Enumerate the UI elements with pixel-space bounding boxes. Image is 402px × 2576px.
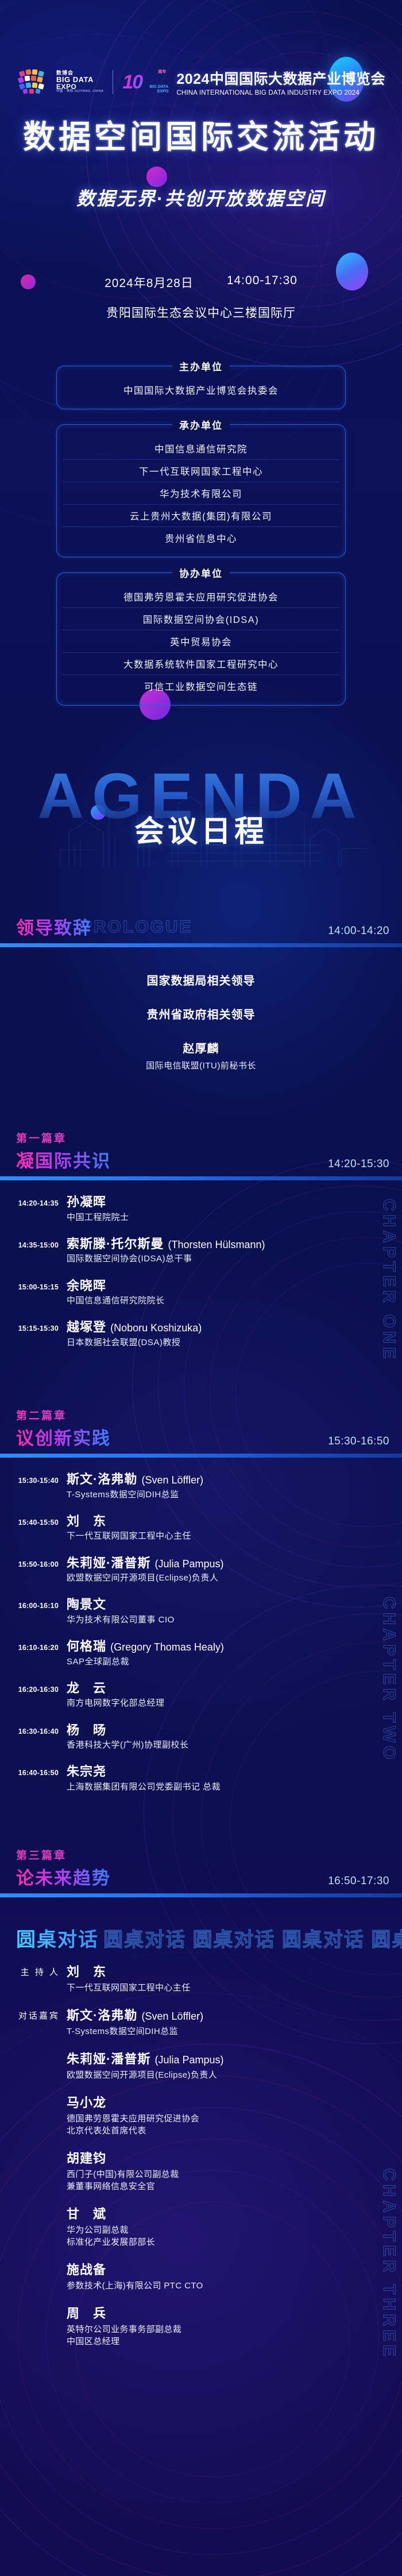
guest-label-spacer [0, 2303, 67, 2307]
organizer-item: 可信工业数据空间生态链 [63, 675, 339, 697]
talk-speaker-name: 余晓晖 [67, 1278, 402, 1294]
organizer-item: 英中贸易协会 [63, 630, 339, 652]
roundtable-guest-row: 对话嘉宾 斯文·洛弗勒 (Sven Löffler) T-Systems数据空间… [0, 2005, 402, 2049]
section-header: 领导致辞 PROLOGUE 14:00-14:20 [0, 913, 402, 939]
roundtable-guest-row: 周 兵 英特尔公司业务事务部副总裁 中国区总经理 [0, 2303, 402, 2359]
talk-row: 15:15-15:30 越塚登 (Noboru Koshizuka) 日本数据社… [0, 1319, 402, 1361]
section-rule [0, 1454, 402, 1458]
guest-name: 甘 斌 [67, 2204, 402, 2222]
hero-section: 数博会 BIG DATA EXPO 中国 · 贵阳 GUIYANG, CHINA… [0, 0, 402, 321]
guest-label-spacer [0, 2204, 67, 2208]
anniversary-bigdata-expo: BIG DATAEXPO [150, 85, 169, 94]
roundtable-ghost-text: 圆桌对话 圆桌对话 圆桌对话 圆桌对话 [103, 1924, 402, 1952]
roundtable-participants: 主 持 人 刘 东 下一代互联网国家工程中心主任 对话嘉宾 斯文·洛弗勒 (Sv… [0, 1954, 402, 2393]
talk-row: 15:40-15:50 刘 东 下一代互联网国家工程中心主任 [0, 1513, 402, 1555]
logo-divider [113, 70, 113, 94]
talk-row: 16:00-16:10 陶景文 华为技术有限公司董事 CIO [0, 1597, 402, 1638]
guest-label-spacer [0, 2260, 67, 2264]
talk-speaker-role: 上海数据集团有限公司党委副书记 总裁 [67, 1781, 402, 1793]
event-datetime: 2024年8月28日 14:00-17:30 [0, 274, 402, 291]
section-header: 第二篇章 议创新实践 15:30-16:50 [0, 1407, 402, 1450]
talk-speaker-name: 陶景文 [67, 1597, 402, 1613]
organizer-item: 下一代互联网国家工程中心 [63, 459, 339, 482]
slogan-dot: · [157, 188, 165, 209]
talk-speaker-name: 杨 旸 [67, 1722, 402, 1738]
host-role: 下一代互联网国家工程中心主任 [67, 1982, 402, 1994]
speaker-role: 国际电信联盟(ITU)前秘书长 [0, 1059, 402, 1071]
talk-speaker-role: 中国信息通信研究院院长 [67, 1295, 402, 1307]
talk-speaker-role: 国际数据空间协会(IDSA)总干事 [67, 1253, 402, 1265]
roundtable-guest-row: 施战备 参数技术(上海)有限公司 PTC CTO [0, 2260, 402, 2303]
chapter-label: 第二篇章 [16, 1407, 393, 1423]
talk-speaker-name: 索斯滕·托尔斯曼 (Thorsten Hülsmann) [67, 1236, 402, 1252]
organizer-item: 大数据系统软件国家工程研究中心 [63, 652, 339, 675]
event-poster: 数博会 BIG DATA EXPO 中国 · 贵阳 GUIYANG, CHINA… [0, 0, 402, 2576]
talk-time: 14:20-14:35 [0, 1194, 67, 1207]
speaker-name: 贵州省政府相关领导 [0, 1005, 402, 1022]
organizer-item: 贵州省信息中心 [63, 526, 339, 549]
event-time: 14:00-17:30 [227, 274, 297, 291]
chapter-one-talks: 14:20-14:35 孙凝晖 中国工程院院士 14:35-15:00 索斯滕·… [0, 1180, 402, 1365]
talk-speaker-role: 香港科技大学(广州)协理副校长 [67, 1740, 402, 1751]
event-venue: 贵阳国际生态会议中心三楼国际厅 [0, 304, 402, 321]
organizer-item: 华为技术有限公司 [63, 482, 339, 504]
expo-title-en: CHINA INTERNATIONAL BIG DATA INDUSTRY EX… [176, 90, 385, 96]
guest-label-spacer [0, 2148, 67, 2152]
organizer-item: 云上贵州大数据(集团)有限公司 [63, 504, 339, 526]
roundtable-guest-row: 胡建钧 西门子(中国)有限公司副总裁 兼董事网络信息安全官 [0, 2148, 402, 2204]
section-title: 领导致辞 [16, 913, 92, 939]
guest-role: 参数技术(上海)有限公司 PTC CTO [67, 2280, 402, 2292]
talk-time: 14:35-15:00 [0, 1236, 67, 1249]
organizer-item: 中国国际大数据产业博览会执委会 [63, 379, 339, 401]
anniversary-logo-icon: 10 周年 BIG DATAEXPO [122, 69, 165, 95]
chapter-label: 第一篇章 [16, 1130, 393, 1145]
guest-role: 华为公司副总裁 标准化产业发展部部长 [67, 2224, 402, 2248]
organizer-heading: 主办单位 [56, 359, 346, 373]
organizer-item: 德国弗劳恩霍夫应用研究促进协会 [63, 586, 339, 607]
organizers-section: 主办单位 中国国际大数据产业博览会执委会 承办单位 中国信息通信研究院 下一代互… [0, 366, 402, 706]
talk-speaker-role: 华为技术有限公司董事 CIO [67, 1614, 402, 1626]
organizer-heading: 协办单位 [56, 565, 346, 580]
talk-speaker-name: 何格瑞 (Gregory Thomas Healy) [67, 1638, 402, 1655]
expo-title-block: 2024中国国际大数据产业博览会 CHINA INTERNATIONAL BIG… [171, 68, 385, 96]
talk-row: 16:30-16:40 杨 旸 香港科技大学(广州)协理副校长 [0, 1722, 402, 1764]
talk-time: 15:40-15:50 [0, 1513, 67, 1527]
talk-speaker-name: 越塚登 (Noboru Koshizuka) [67, 1319, 402, 1335]
guest-name: 朱莉娅·潘普斯 (Julia Pampus) [67, 2049, 402, 2067]
talk-row: 15:50-16:00 朱莉娅·潘普斯 (Julia Pampus) 欧盟数据空… [0, 1555, 402, 1597]
talk-speaker-role: 下一代互联网国家工程中心主任 [67, 1531, 402, 1542]
talk-time: 15:00-15:15 [0, 1278, 67, 1291]
anniversary-cn: 周年 [158, 69, 166, 75]
talk-speaker-role: 中国工程院院士 [67, 1212, 402, 1223]
roundtable-guest-row: 朱莉娅·潘普斯 (Julia Pampus) 欧盟数据空间开源项目(Eclips… [0, 2049, 402, 2093]
guest-name: 马小龙 [67, 2093, 402, 2111]
roundtable-title: 圆桌对话 [16, 1924, 99, 1952]
section-ghost-text: PROLOGUE [80, 917, 193, 937]
guest-label-spacer [0, 2049, 67, 2053]
talk-time: 15:30-15:40 [0, 1471, 67, 1485]
talk-time: 16:30-16:40 [0, 1722, 67, 1736]
talk-row: 15:30-15:40 斯文·洛弗勒 (Sven Löffler) T-Syst… [0, 1471, 402, 1513]
section-time: 15:30-16:50 [328, 1435, 393, 1450]
expo-title-cn: 2024中国国际大数据产业博览会 [176, 68, 385, 88]
section-header: 第三篇章 论未来趋势 16:50-17:30 [0, 1847, 402, 1889]
page-title: 数据空间国际交流活动 [0, 111, 402, 158]
brand-logo-sub: 中国 · 贵阳 GUIYANG, CHINA [56, 90, 103, 94]
talk-speaker-name: 刘 东 [67, 1513, 402, 1529]
speaker-name: 赵厚麟 [0, 1039, 402, 1056]
guest-role: 德国弗劳恩霍夫应用研究促进协会 北京代表处首席代表 [67, 2113, 402, 2137]
roundtable-host-row: 主 持 人 刘 东 下一代互联网国家工程中心主任 [0, 1962, 402, 2005]
talk-speaker-role: 南方电网数字化部总经理 [67, 1698, 402, 1709]
guest-name: 斯文·洛弗勒 (Sven Löffler) [67, 2005, 402, 2024]
section-time: 14:20-15:30 [328, 1158, 393, 1172]
section-rule [0, 943, 402, 947]
section-chapter-one: CHAPTER ONE 第一篇章 凝国际共识 14:20-15:30 14:20… [0, 1130, 402, 1365]
agenda-banner: AGENDA 会议日程 [0, 761, 402, 896]
talk-speaker-name: 朱宗尧 [67, 1764, 402, 1780]
roundtable-guest-row: 甘 斌 华为公司副总裁 标准化产业发展部部长 [0, 2204, 402, 2260]
section-title: 论未来趋势 [16, 1864, 111, 1889]
event-slogan: 数据无界·共创开放数据空间 [0, 184, 402, 211]
prologue-speaker-list: 国家数据局相关领导 贵州省政府相关领导 赵厚麟 国际电信联盟(ITU)前秘书长 [0, 947, 402, 1077]
guest-role: 西门子(中国)有限公司副总裁 兼董事网络信息安全官 [67, 2168, 402, 2192]
section-rule [0, 1176, 402, 1180]
talk-speaker-name: 孙凝晖 [67, 1194, 402, 1210]
slogan-right: 共创开放数据空间 [165, 188, 326, 209]
talk-time: 16:20-16:30 [0, 1680, 67, 1694]
bigdata-expo-logo-icon [18, 69, 51, 95]
organizer-item: 国际数据空间协会(IDSA) [63, 607, 339, 630]
talk-time: 16:10-16:20 [0, 1638, 67, 1652]
talk-row: 16:10-16:20 何格瑞 (Gregory Thomas Healy) S… [0, 1638, 402, 1680]
organizer-box: 德国弗劳恩霍夫应用研究促进协会 国际数据空间协会(IDSA) 英中贸易协会 大数… [56, 572, 346, 706]
talk-speaker-name: 朱莉娅·潘普斯 (Julia Pampus) [67, 1555, 402, 1571]
guest-label: 对话嘉宾 [0, 2005, 67, 2021]
talk-time: 16:00-16:10 [0, 1597, 67, 1610]
section-time: 14:00-14:20 [328, 925, 393, 939]
section-chapter-two: CHAPTER TWO 第二篇章 议创新实践 15:30-16:50 15:30… [0, 1407, 402, 1809]
organizer-block-supporter: 协办单位 德国弗劳恩霍夫应用研究促进协会 国际数据空间协会(IDSA) 英中贸易… [56, 572, 346, 706]
section-title: 凝国际共识 [16, 1146, 111, 1172]
brand-logo-text: 数博会 BIG DATA EXPO 中国 · 贵阳 GUIYANG, CHINA [56, 71, 103, 94]
event-date: 2024年8月28日 [105, 274, 194, 291]
organizer-box: 中国信息通信研究院 下一代互联网国家工程中心 华为技术有限公司 云上贵州大数据(… [56, 424, 346, 557]
organizer-block-host: 主办单位 中国国际大数据产业博览会执委会 [56, 366, 346, 409]
guest-label-spacer [0, 2093, 67, 2097]
section-prologue: 领导致辞 PROLOGUE 14:00-14:20 国家数据局相关领导 贵州省政… [0, 913, 402, 1077]
section-rule [0, 1893, 402, 1897]
section-chapter-three: CHAPTER THREE 第三篇章 论未来趋势 16:50-17:30 圆桌对… [0, 1847, 402, 2393]
guest-role: 英特尔公司业务事务部副总裁 中国区总经理 [67, 2323, 402, 2348]
guest-name: 周 兵 [67, 2303, 402, 2322]
talk-row: 14:20-14:35 孙凝晖 中国工程院院士 [0, 1194, 402, 1236]
talk-time: 15:15-15:30 [0, 1319, 67, 1332]
talk-speaker-role: 日本数据社会联盟(DSA)教授 [67, 1337, 402, 1349]
roundtable-banner: 圆桌对话 圆桌对话 圆桌对话 圆桌对话 圆桌对话 [0, 1924, 402, 1954]
section-header: 第一篇章 凝国际共识 14:20-15:30 [0, 1130, 402, 1172]
chapter-label: 第三篇章 [16, 1847, 393, 1862]
speaker-name: 国家数据局相关领导 [0, 971, 402, 988]
guest-name: 胡建钧 [67, 2148, 402, 2167]
talk-time: 16:40-16:50 [0, 1764, 67, 1777]
organizer-block-coorganizer: 承办单位 中国信息通信研究院 下一代互联网国家工程中心 华为技术有限公司 云上贵… [56, 424, 346, 557]
slogan-left: 数据无界 [76, 188, 157, 209]
talk-row: 16:20-16:30 龙 云 南方电网数字化部总经理 [0, 1680, 402, 1722]
chapter-two-talks: 15:30-15:40 斯文·洛弗勒 (Sven Löffler) T-Syst… [0, 1458, 402, 1809]
roundtable-guest-row: 马小龙 德国弗劳恩霍夫应用研究促进协会 北京代表处首席代表 [0, 2093, 402, 2148]
talk-time: 15:50-16:00 [0, 1555, 67, 1568]
talk-speaker-name: 斯文·洛弗勒 (Sven Löffler) [67, 1471, 402, 1488]
guest-name: 施战备 [67, 2260, 402, 2278]
talk-speaker-role: T-Systems数据空间DIH总监 [67, 1489, 402, 1501]
section-time: 16:50-17:30 [328, 1875, 393, 1889]
guest-role: 欧盟数据空间开源项目(Eclipse)负责人 [67, 2069, 402, 2081]
organizer-heading: 承办单位 [56, 417, 346, 432]
host-label: 主 持 人 [0, 1962, 67, 1978]
talk-speaker-name: 龙 云 [67, 1680, 402, 1696]
guest-role: T-Systems数据空间DIH总监 [67, 2025, 402, 2037]
talk-row: 15:00-15:15 余晓晖 中国信息通信研究院院长 [0, 1278, 402, 1320]
agenda-title: 会议日程 [134, 807, 268, 850]
talk-row: 16:40-16:50 朱宗尧 上海数据集团有限公司党委副书记 总裁 [0, 1764, 402, 1806]
talk-speaker-role: 欧盟数据空间开源项目(Eclipse)负责人 [67, 1572, 402, 1584]
section-title: 议创新实践 [16, 1424, 111, 1450]
host-name: 刘 东 [67, 1962, 402, 1980]
brand-logo-row: 数博会 BIG DATA EXPO 中国 · 贵阳 GUIYANG, CHINA… [0, 68, 402, 96]
talk-speaker-role: SAP全球副总裁 [67, 1656, 402, 1668]
talk-row: 14:35-15:00 索斯滕·托尔斯曼 (Thorsten Hülsmann)… [0, 1236, 402, 1278]
organizer-item: 中国信息通信研究院 [63, 437, 339, 459]
